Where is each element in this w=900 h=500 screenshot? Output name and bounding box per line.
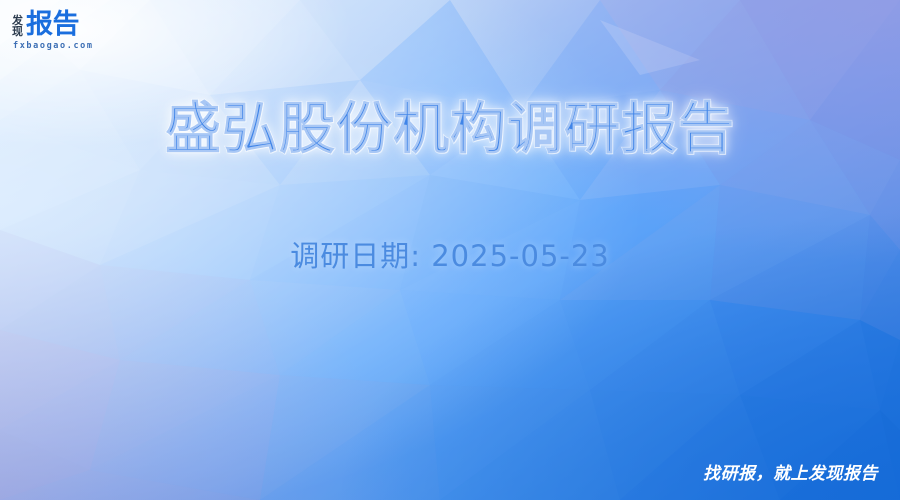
logo-char-xian: 现 [12,26,23,37]
survey-date-subtitle: 调研日期: 2025-05-23 [0,233,900,275]
logo-url-text: fxbaogao.com [13,41,122,51]
logo-stacked-chars: 发 现 [12,15,23,38]
brand-tagline: 找研报，就上发现报告 [703,459,878,484]
logo-wordmark: 发 现 报告 [12,8,122,38]
site-logo[interactable]: 发 现 报告 fxbaogao.com [12,8,122,54]
page-title: 盛弘股份机构调研报告 [0,84,900,165]
report-cover: 发 现 报告 fxbaogao.com 盛弘股份机构调研报告 调研日期: 202… [0,0,900,500]
logo-main-text: 报告 [26,11,79,38]
